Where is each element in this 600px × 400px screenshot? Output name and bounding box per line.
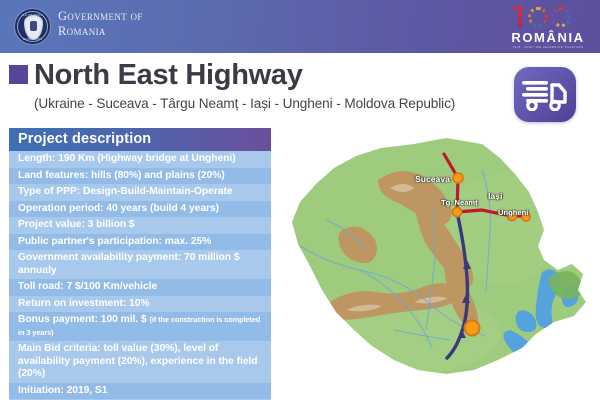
marker-bucharest — [465, 321, 480, 336]
title-square-bullet — [9, 65, 28, 84]
romania-map-graphic — [286, 134, 594, 382]
header-bar: GUVERNUL ROMANIEI Government of Romania … — [0, 0, 600, 53]
romania-map: Suceava Iași Tg. Neamț Ungheni — [286, 134, 594, 382]
project-description-panel: Project description Length: 190 Km (High… — [9, 128, 271, 400]
project-description-row: Public partner's participation: max. 25% — [9, 234, 271, 251]
project-description-row: Type of PPP: Design-Build-Maintain-Opera… — [9, 184, 271, 201]
project-description-row-text: Length: 190 Km (Highway bridge at Unghen… — [18, 153, 236, 164]
truck-icon-glyph — [522, 79, 568, 111]
project-description-row-text: Land features: hills (80%) and plains (2… — [18, 170, 225, 181]
project-description-row: Initiation: 2019, S1 — [9, 383, 271, 400]
project-description-row-text: Operation period: 40 years (build 4 year… — [18, 203, 219, 214]
project-description-row-text: Government availability payment: 70 mill… — [18, 252, 240, 276]
project-description-row-text: Public partner's participation: max. 25% — [18, 236, 211, 247]
project-description-row: Bonus payment: 100 mil. $ (if the constr… — [9, 312, 271, 341]
project-description-row: Toll road: 7 $/100 Km/vehicle — [9, 279, 271, 296]
page-subtitle: (Ukraine - Suceava - Târgu Neamț - Iași … — [34, 96, 455, 111]
marker-tg-neamt — [452, 207, 461, 216]
centenary-tagline: 1918 - 2018 | WE CELEBRATE TOGETHER — [504, 45, 592, 50]
slide-canvas: GUVERNUL ROMANIEI Government of Romania … — [0, 0, 600, 400]
centenary-logo: ROMÂNIA 1918 - 2018 | WE CELEBRATE TOGET… — [504, 4, 592, 51]
project-description-row: Return on investment: 10% — [9, 296, 271, 313]
map-label-ungheni: Ungheni — [498, 208, 528, 217]
page-title: North East Highway — [34, 58, 303, 92]
project-description-row: Main Bid criteria: toll value (30%), lev… — [9, 341, 271, 383]
centenary-number-glyphs — [504, 4, 592, 31]
map-label-iasi: Iași — [488, 191, 502, 201]
project-description-row: Length: 190 Km (Highway bridge at Unghen… — [9, 151, 271, 168]
project-description-row-text: Type of PPP: Design-Build-Maintain-Opera… — [18, 186, 233, 197]
project-description-row: Government availability payment: 70 mill… — [9, 250, 271, 279]
government-title-line2: Romania — [58, 24, 143, 39]
project-description-row-text: Return on investment: 10% — [18, 298, 150, 309]
project-description-row-text: Project value: 3 billion $ — [18, 219, 135, 230]
project-description-row: Operation period: 40 years (build 4 year… — [9, 201, 271, 218]
project-description-row-text: Toll road: 7 $/100 Km/vehicle — [18, 281, 157, 292]
romania-government-seal-icon: GUVERNUL ROMANIEI — [14, 8, 51, 45]
digit-zero-glyph-1 — [528, 7, 548, 27]
project-description-row-text: Bonus payment: 100 mil. $ — [18, 314, 149, 325]
map-label-suceava: Suceava — [415, 174, 450, 184]
digit-one-glyph — [518, 6, 522, 28]
centenary-country-label: ROMÂNIA — [504, 31, 592, 45]
project-description-row: Land features: hills (80%) and plains (2… — [9, 168, 271, 185]
truck-icon — [514, 67, 576, 122]
marker-suceava — [453, 173, 463, 183]
digit-zero-glyph-2 — [551, 7, 571, 27]
project-description-row-text: Main Bid criteria: toll value (30%), lev… — [18, 343, 258, 379]
project-description-rows: Length: 190 Km (Highway bridge at Unghen… — [9, 151, 271, 400]
project-description-row-text: Initiation: 2019, S1 — [18, 385, 107, 396]
project-description-heading: Project description — [9, 128, 271, 151]
project-description-row: Project value: 3 billion $ — [9, 217, 271, 234]
map-label-tg-neamt: Tg. Neamț — [441, 198, 478, 207]
seal-ring-bottom-text: ROMANIEI — [15, 37, 50, 41]
government-title-line1: Government of — [58, 9, 143, 24]
government-title: Government of Romania — [58, 9, 143, 38]
